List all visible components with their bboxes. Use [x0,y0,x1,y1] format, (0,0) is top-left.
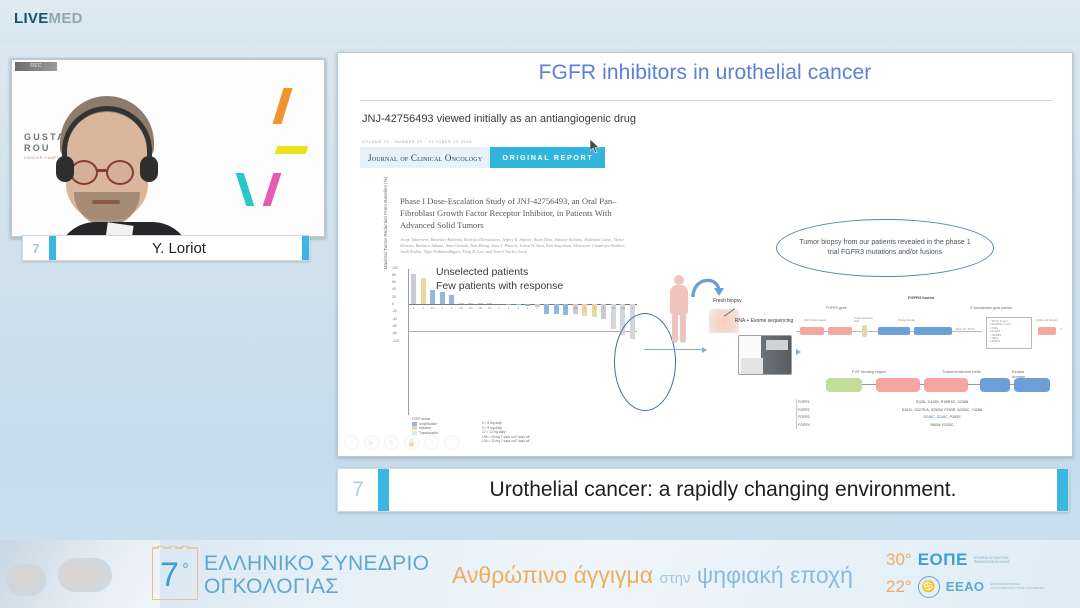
chart-bar-label: 1 [629,306,635,310]
banner-accent-bar-left [378,469,389,511]
nameplate-badge-icon: 7 [23,236,49,260]
domain-pink-1 [876,378,920,392]
mutation-values: S125L, D128V, R189H/C, S238N [834,399,1050,407]
figure-leg-left [672,313,678,343]
chart-bar-label: 10I [458,306,464,310]
glasses-bridge [97,169,107,172]
needle-icon [724,308,735,316]
headphone-left-cup [56,156,74,182]
domain-pink-2 [924,378,968,392]
speaker-video-panel[interactable]: REC GUSTA ROU CANCER CAMPUS GRAND PARIS [10,58,326,238]
chart-bar-label: 10I [487,306,493,310]
presentation-slide[interactable]: FGFR inhibitors in urothelial cancer JNJ… [337,52,1073,457]
logo-live-text: LIVE [14,10,49,27]
chart-bar [478,303,483,304]
society-logo-row-eeao: 22° ♋ ΕΕΑΟ ΕΛΛΗΝΙΚΗ ΕΤΑΙΡΕΙΑ ΑΚΤΙΝΟΘΕΡΑΠ… [886,573,1072,600]
footer-photo [0,540,160,608]
tagline-part-3: ψηφιακή εποχή [697,562,853,588]
gene-label: FGFR3 gene [826,306,847,310]
mutation-row: FGFR3R248C, S249C, P283S [798,414,1050,422]
fusion-title: FGFR3 fusion [908,295,934,300]
congress-degree: o [183,560,188,570]
zoom-icon[interactable]: ⌕ [424,435,439,450]
chart-y-tick: -40 [392,317,399,321]
chart-y-tick: 20 [392,295,398,299]
headphone-right-cup [140,156,158,182]
chart-y-tick: 60 [392,280,398,284]
domain-green [826,378,862,392]
back-icon[interactable]: ‹ [344,435,359,450]
banner-badge-icon: 7 [338,469,378,511]
eope-edition-number: 30° [886,550,912,570]
legend-swatch [412,426,417,430]
sequencer-panel [741,358,763,374]
article-title: Phase I Dose-Escalation Study of JNJ-427… [400,195,630,231]
mutation-values: R248C, S249C, P283S [834,414,1050,422]
tagline-part-2: στην [659,570,690,587]
chart-bar-label: 1 [449,306,455,310]
session-title: Urothelial cancer: a rapidly changing en… [389,478,1057,502]
eope-logo-text: ΕΟΠΕ [918,550,968,570]
chart-bar-label: 10I [620,306,626,310]
session-title-banner: 7 Urothelial cancer: a rapidly changing … [337,468,1069,512]
chart-bar-label: 1 [515,306,521,310]
congress-number: 7 [160,556,179,595]
play-icon[interactable]: ▶ [364,435,379,450]
nameplate-accent-bar-left [49,236,56,260]
article-authors: Josep Tabernero, Rastislav Bahleda, Rodr… [400,237,632,256]
congress-logo-crown-icon [152,546,198,554]
eeao-logo-text: ΕΕΑΟ [946,579,985,594]
chart-bar-label: 10I [477,306,483,310]
chart-annotation: Unselected patients Few patients with re… [436,265,563,293]
chart-bar-label: 1 [411,306,417,310]
eope-logo-subtext: ΕΤΑΙΡΕΙΑ ΟΓΚΟΛΟΓΩΝ ΠΑΘΟΛΟΓΩΝ ΕΛΛΑΔΑΣ [974,556,1020,564]
chart-bar [487,303,492,304]
chart-bar [459,303,464,304]
eeao-edition-number: 22° [886,577,912,597]
chart-y-tick: 100 [392,266,400,270]
pen-icon[interactable]: ✎ [384,435,399,450]
sequencer-icon [738,335,792,375]
figure-torso [670,285,688,315]
partner-gene-item: • WHSC1 [990,340,1028,343]
partner-gene-list: • TACC3 3' exon• BAIAP2L1 3' exon• NSD1•… [986,317,1032,349]
chart-bar-label: 1 [525,306,531,310]
congress-name: ΕΛΛΗΝΙΚΟ ΣΥΝΕΔΡΙΟ ΟΓΚΟΛΟΓΙΑΣ [204,552,429,598]
chart-y-tick: -60 [392,324,399,328]
recording-badge: REC [15,62,57,71]
chart-highlight-ellipse [614,313,676,411]
chart-bar-label: 1 [506,306,512,310]
banner-accent-bar-right [1057,469,1068,511]
journal-volume-line: VOLUME 33 · NUMBER 30 · OCTOBER 20 2015 [362,140,472,144]
pipeline-arrow-1-icon [644,349,706,350]
chart-bar [411,274,416,304]
patient-figure-icon [668,275,690,343]
biopsy-label: Fresh biopsy [713,298,742,304]
mutation-row: FGFR2D101Y, G227E/A, S252W, P253R, W290C… [798,407,1050,415]
partner-exon-block [1038,327,1056,335]
livemed-logo[interactable]: LIVEMED [14,10,83,27]
chart-bar-label: 1 [553,306,559,310]
chart-y-tick: 0 [392,302,396,306]
chart-bar-label: 1 [544,306,550,310]
congress-name-line1: ΕΛΛΗΝΙΚΟ ΣΥΝΕΔΡΙΟ [204,552,429,575]
chart-bar-label: 1 [534,306,540,310]
slide-title: FGFR inhibitors in urothelial cancer [338,61,1072,85]
slide-divider [360,100,1052,101]
congress-tagline: Ανθρώπινο άγγιγμα στην ψηφιακή εποχή [452,562,853,589]
callout-bubble: Tumor biopsy from our patients revealed … [776,219,994,277]
brace-label-tm: Transmembrane helix [942,369,981,374]
figure-leg-right [680,313,686,343]
coiled-coil-label: Coiled-coil domain [1036,319,1057,322]
tagline-part-1: Ανθρώπινο άγγιγμα [452,562,653,588]
chart-bar [440,292,445,304]
mutation-values: R80W, R203C [834,422,1050,430]
exon-note: Exon 17 / 18 19 [956,328,974,331]
mutation-table: FGFR1S125L, D128V, R189H/C, S238NFGFR2D1… [798,399,1050,429]
chart-y-tick: -100 [392,339,401,343]
chart-bar-label: 1 [439,306,445,310]
annotation-line-1: Unselected patients [436,265,563,279]
chart-legend: FGFR status AmplificationMutationTranslo… [412,417,438,435]
partner-label: 3' downstream gene partner [970,306,1012,310]
chart-bar-label: 1 [420,306,426,310]
chart-y-tick: -20 [392,309,399,313]
nameplate-accent-bar-right [302,236,309,260]
congress-logo: 7 o [152,550,198,600]
protein-domain-row: FGF binding region Transmembrane helix K… [826,369,1032,389]
chart-bar-label: 1 [601,306,607,310]
chart-y-tick: 40 [392,287,398,291]
gene-diagram: FGFR3 fusion FGFR3 gene 3' downstream ge… [790,295,1066,445]
three-prime-label: 3' [1060,328,1062,331]
footer-banner: 7 o ΕΛΛΗΝΙΚΟ ΣΥΝΕΔΡΙΟ ΟΓΚΟΛΟΓΙΑΣ Ανθρώπι… [0,540,1080,608]
domain-blue-2 [1014,378,1050,392]
society-logo-row-eope: 30° ΕΟΠΕ ΕΤΑΙΡΕΙΑ ΟΓΚΟΛΟΓΩΝ ΠΑΘΟΛΟΓΩΝ ΕΛ… [886,546,1072,573]
exon-block-4 [914,327,952,335]
mutation-table-rule [796,399,797,429]
exon-block-2 [828,327,852,335]
footer-photo-head [6,564,46,596]
mutation-row: FGFR4R80W, R203C [798,422,1050,430]
domain-blue-1 [980,378,1010,392]
sequencing-label: RNA + Exome sequencing [733,318,795,325]
chart-dose-notes: 6 = 6 mg daily9 = 9 mg daily12 = 12 mg d… [482,421,529,444]
chart-bar-label: 10I [468,306,474,310]
top-brand-bar: LIVEMED [0,0,1080,44]
mutation-gene: FGFR2 [798,407,834,415]
chart-y-tick: -80 [392,331,399,335]
legend-swatch [412,422,417,426]
mutation-gene: FGFR1 [798,399,834,407]
chart-bar-label: 1 [591,306,597,310]
mutation-row: FGFR1S125L, D128V, R189H/C, S238N [798,399,1050,407]
chart-y-axis-label: Maximal Tumor Reduction From Baseline (%… [383,167,388,279]
mutation-gene: FGFR4 [798,422,834,430]
chart-bar [468,303,473,304]
chart-threshold-line [409,331,637,332]
slide-subtitle: JNJ-42756493 viewed initially as an anti… [362,113,636,125]
beard [74,192,140,226]
chart-bar-label: 10I [430,306,436,310]
lock-icon[interactable]: 🔒 [404,435,419,450]
more-icon[interactable]: ··· [444,435,459,450]
sequencer-screen [766,340,788,350]
plus-sign: + [763,311,765,316]
slide-toolbar[interactable]: ‹ ▶ ✎ 🔒 ⌕ ··· [344,435,459,450]
mouth [92,200,120,204]
chart-y-tick: 80 [392,273,398,277]
logo-med-text: MED [49,10,83,27]
app-root: LIVEMED REC GUSTA ROU CANCER CAMPUS GRAN… [0,0,1080,608]
figure-head [674,275,684,285]
chart-bar-label: 1 [582,306,588,310]
speaker-name: Y. Loriot [56,240,302,257]
exon-block-1 [800,327,824,335]
journal-tag: ORIGINAL REPORT [490,147,605,168]
congress-name-line2: ΟΓΚΟΛΟΓΙΑΣ [204,575,429,598]
journal-name: Journal of Clinical Oncology [360,147,490,168]
chart-bar [506,304,511,305]
exon-block-tm [862,325,867,337]
exon-tiny-label-2: Transmembrane helix [854,317,876,323]
footer-photo-hands [58,558,112,592]
mutation-gene: FGFR3 [798,414,834,422]
annotation-line-2: Few patients with response [436,279,563,293]
curved-arrow-icon [690,271,724,299]
mutation-values: D101Y, G227E/A, S252W, P253R, W290C, Y32… [834,407,1050,415]
exon-tiny-label-1: FGF binding region [804,319,826,322]
exon-tiny-label-3: Kinase domain [898,319,915,322]
logo-stroke-yellow-icon [275,146,308,154]
chart-bar [421,278,426,304]
dose-note: 12A = 12 mg 7 days on/7 days off [482,439,529,444]
chart-bar [449,295,454,304]
chart-bar-label: 10I [572,306,578,310]
chart-bar-label: 1 [496,306,502,310]
journal-header: Journal of Clinical Oncology ORIGINAL RE… [360,147,605,168]
exon-block-3 [878,327,910,335]
speaker-nameplate: 7 Y. Loriot [22,235,310,261]
eeao-logo-subtext: ΕΛΛΗΝΙΚΗ ΕΤΑΙΡΕΙΑ ΑΚΤΙΝΟΘΕΡΑΠΕΥΤΙΚΗΣ ΟΓΚ… [991,583,1051,590]
brace-label-fgf: FGF binding region [852,369,886,374]
speaker-portrait [48,96,166,238]
chart-bar-label: 10I [563,306,569,310]
society-logos: 30° ΕΟΠΕ ΕΤΑΙΡΕΙΑ ΟΓΚΟΛΟΓΩΝ ΠΑΘΟΛΟΓΩΝ ΕΛ… [886,546,1072,604]
crab-icon: ♋ [918,576,940,598]
chart-bar [430,290,435,304]
chart-bar-label: 10I [610,306,616,310]
